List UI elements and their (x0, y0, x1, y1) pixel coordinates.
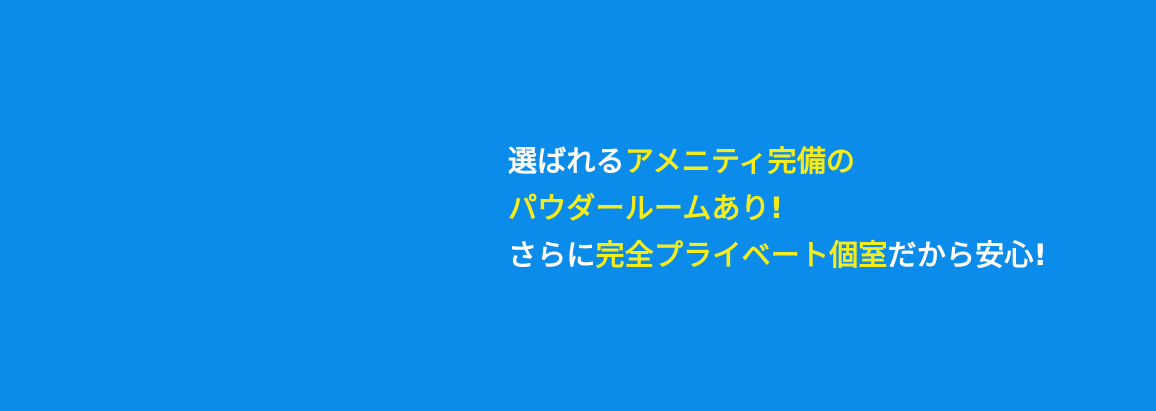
promo-banner: 選ばれるアメニティ完備の パウダールームあり! さらに完全プライベート個室だから… (0, 0, 1156, 411)
headline-line-2: パウダールームあり! (508, 185, 1128, 232)
headline-line-1-segment-1: 選ばれる (508, 144, 625, 178)
headline-line-2-segment-1: パウダールームあり! (508, 191, 783, 225)
headline-line-3-segment-2: 完全プライベート個室 (596, 238, 888, 272)
headline-line-3: さらに完全プライベート個室だから安心! (508, 232, 1128, 279)
headline-line-1: 選ばれるアメニティ完備の (508, 138, 1128, 185)
headline-block: 選ばれるアメニティ完備の パウダールームあり! さらに完全プライベート個室だから… (508, 138, 1128, 279)
headline-line-3-segment-1: さらに (508, 238, 596, 272)
headline-line-1-segment-2: アメニティ完備の (625, 144, 855, 178)
headline-line-3-segment-3: だから安心! (888, 238, 1047, 272)
